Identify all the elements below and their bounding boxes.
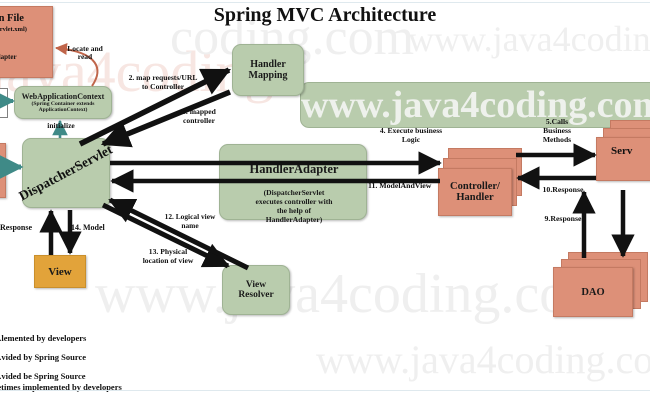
top-divider [0,2,650,3]
label-step-response: .Response [0,224,46,233]
label-step14-model: 14. Model [71,224,131,233]
label-step12-line1: 12. Logical view [148,213,232,221]
label-step3-line1: 3. mapped [160,108,238,116]
label-step5-line3: Methods [524,136,590,144]
label-step5-line2: Business [524,127,590,135]
label-initialize: initialize [30,122,92,130]
legend-row-0: ...lemented by developers [0,333,86,343]
bottom-divider [0,390,650,391]
label-step13-line2: location of view [120,257,216,265]
label-step13-line1: 13. Physical [120,248,216,256]
label-step2-line2: to Controller [108,83,218,91]
legend-row-2: ...vided be Spring Source [0,371,86,381]
label-step5-line1: 5.Calls [524,118,590,126]
label-step10-response: 10.Response [527,186,599,194]
diagram-canvas: java4coding coding.com www.java4coding.c… [0,0,650,400]
label-step3-line2: controller [160,117,238,125]
label-step2-line1: 2. map requests/URL [108,74,218,82]
label-step11-modelandview: 11. ModelAndView [368,182,468,190]
label-step9-response: 9.Response [527,215,599,223]
label-step4-line2: Logic [355,136,467,144]
legend-row-1: ...vided by Spring Source [0,352,86,362]
label-step12-line2: name [148,222,232,230]
label-locate-and-read-line2: read [55,53,115,61]
label-step4-line1: 4. Execute business [355,127,467,135]
